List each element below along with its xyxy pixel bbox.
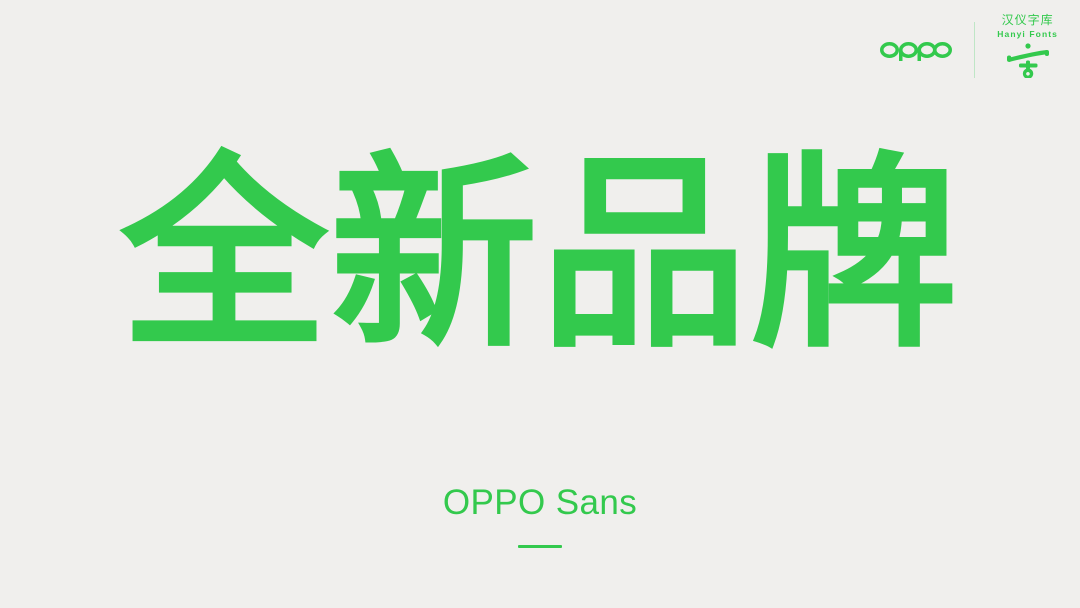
headline-container: 全新品牌	[0, 152, 1080, 360]
subtitle-rule	[518, 545, 562, 548]
brand-bar: 汉仪字库 Hanyi Fonts	[880, 14, 1058, 86]
hanyi-english-name: Hanyi Fonts	[997, 30, 1058, 39]
subtitle-container: OPPO Sans	[0, 484, 1080, 548]
slide-canvas: 汉仪字库 Hanyi Fonts	[0, 0, 1080, 608]
oppo-logo	[880, 14, 974, 86]
page-title: 全新品牌	[120, 152, 960, 360]
hanyi-zi-mark-icon	[1006, 42, 1050, 83]
subtitle-text: OPPO Sans	[443, 484, 637, 523]
oppo-wordmark-icon	[880, 38, 952, 62]
hanyi-logo: 汉仪字库 Hanyi Fonts	[975, 14, 1058, 86]
hanyi-chinese-name: 汉仪字库	[1002, 14, 1054, 26]
